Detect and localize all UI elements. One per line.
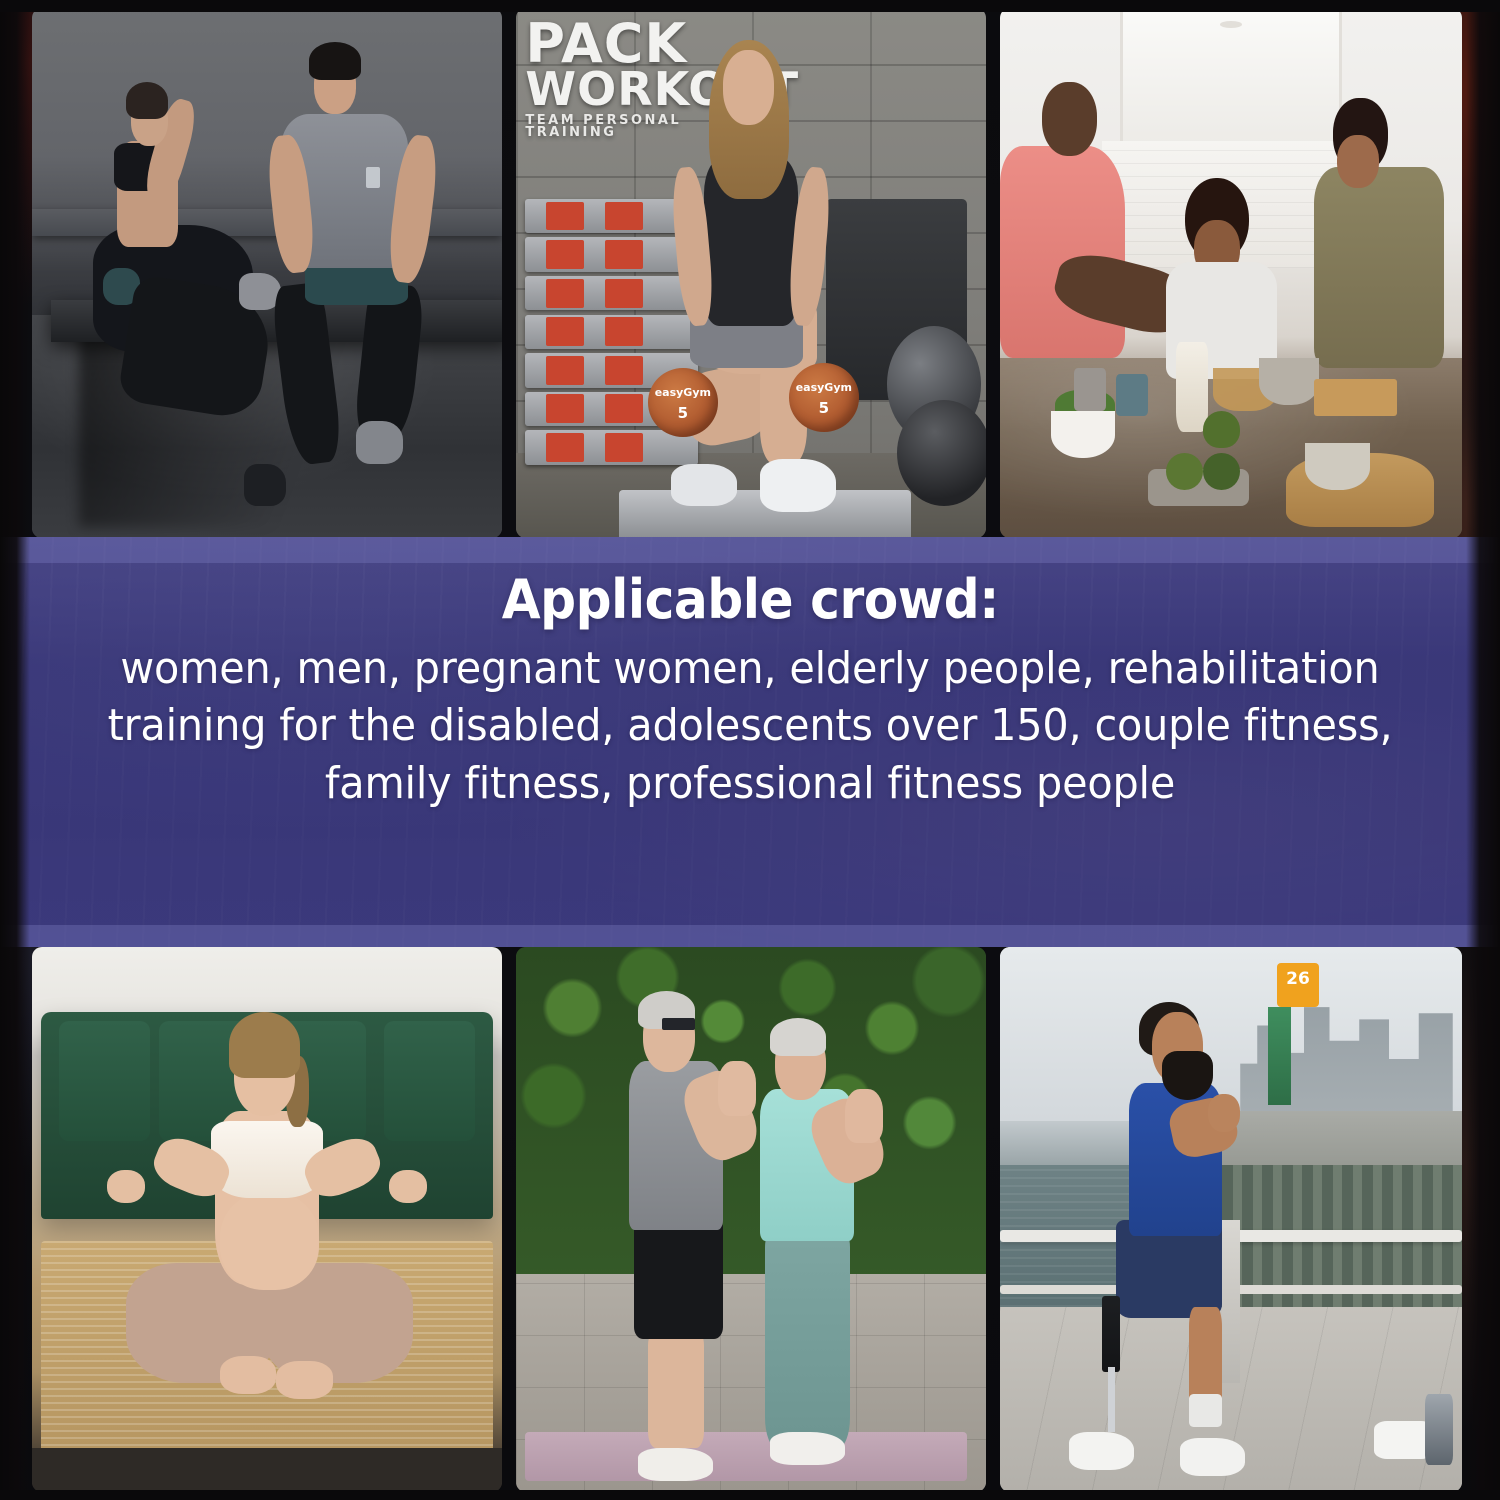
shirt-logo-icon [366,167,380,188]
dumbbell-brand-label: easyGym [648,386,719,399]
man-shoe [356,421,403,463]
woman-hand-right [389,1170,427,1203]
green-tower-sign [1268,1007,1291,1105]
athlete-shoe-front [760,459,835,512]
mother-face [1337,135,1379,188]
water-bottle [1425,1394,1453,1465]
father-body [1000,146,1125,358]
photo-family-kitchen: Family preparing breakfast together at a… [1000,8,1462,538]
dumbbell-left: easyGym 5 [648,368,719,437]
woman-hair [229,1012,300,1077]
dumbbell-plate [648,368,719,437]
woman-hair [126,82,168,119]
pregnant-belly [220,1192,319,1290]
senior-man-shorts [634,1220,723,1340]
woman-hand-left [107,1170,145,1203]
senior-man-shoes [638,1448,713,1481]
runner-shoe-left [1069,1432,1134,1470]
runner-shoe-right [1180,1438,1245,1476]
kitchen-cabinet [1120,8,1342,156]
man-hair [309,42,361,79]
dumbbell-weight-label: 5 [648,404,719,422]
gym-brick-scene: PACK WORKOUT TEAM PERSONAL TRAINING [516,8,986,538]
dumbbell-right: easyGym 5 [789,363,860,432]
applicable-crowd-banner: Applicable crowd: women, men, pregnant w… [0,537,1500,947]
mug-grey [1074,368,1106,410]
senior-man-legs [648,1329,704,1449]
dumbbell-plate [789,363,860,432]
senior-man-prayer-hands [718,1061,756,1116]
cabinet-motif-icon [1220,21,1242,28]
photo-dumbbell-lunge: PACK WORKOUT TEAM PERSONAL TRAINING [516,8,986,538]
woman-shoe-lower [244,464,286,506]
prosthetic-socket [1102,1296,1120,1372]
senior-woman-shoes [770,1432,845,1465]
white-bowl [1051,411,1116,459]
photo-pregnant-meditation: Pregnant woman meditating in lotus pose … [32,947,502,1492]
living-room-scene [32,947,502,1492]
runner-fist [1208,1094,1240,1132]
gym-scene [32,8,502,538]
mother-body [1314,167,1443,368]
kitchen-scene [1000,8,1462,538]
senior-woman-hair [770,1018,826,1056]
father-head [1042,82,1097,156]
floor-rug [32,1448,502,1492]
bowl-on-board [1305,443,1370,491]
photo-senior-yoga: Elderly couple practicing yoga outdoors … [516,947,986,1492]
woman-sports-bra [211,1121,324,1197]
athlete-shoe-rear [671,464,737,506]
dumbbell-weight-label: 5 [789,399,860,417]
athlete-head [723,50,775,124]
rooftop-sign-text: 26 [1277,969,1319,989]
banner-content: Applicable crowd: women, men, pregnant w… [0,537,1500,947]
woman-foot-right [276,1361,332,1399]
wall-band [32,209,502,236]
mug-teal [1116,374,1148,416]
runner-sock [1189,1394,1221,1427]
poster: Couple in athletic wear seated on a gym … [0,0,1500,1500]
banner-body-text: women, men, pregnant women, elderly peop… [92,640,1408,812]
runner-beard [1162,1051,1213,1100]
sofa-cushion [59,1021,149,1141]
dumbbell-brand-label: easyGym [789,381,860,394]
photo-gym-couple: Couple in athletic wear seated on a gym … [32,8,502,538]
garden-scene [516,947,986,1492]
senior-woman-leggings [765,1230,850,1448]
waterfront-scene: 26 [1000,947,1462,1492]
serving-bowl [1259,358,1319,406]
toast-plate [1314,379,1397,416]
sofa-cushion [384,1021,474,1141]
woman-foot-left [220,1356,276,1394]
eyeglasses-icon [662,1018,695,1030]
avocado-one [1203,411,1240,448]
photo-prosthetic-runner: 26 [1000,947,1462,1492]
prosthetic-pylon [1108,1367,1115,1432]
medicine-ball-secondary [897,400,986,506]
senior-woman-prayer-hands [845,1089,883,1144]
railing-post [1222,1220,1240,1384]
milk-bottle [1176,342,1208,432]
yoga-mat [525,1432,967,1481]
banner-title: Applicable crowd: [501,571,998,628]
